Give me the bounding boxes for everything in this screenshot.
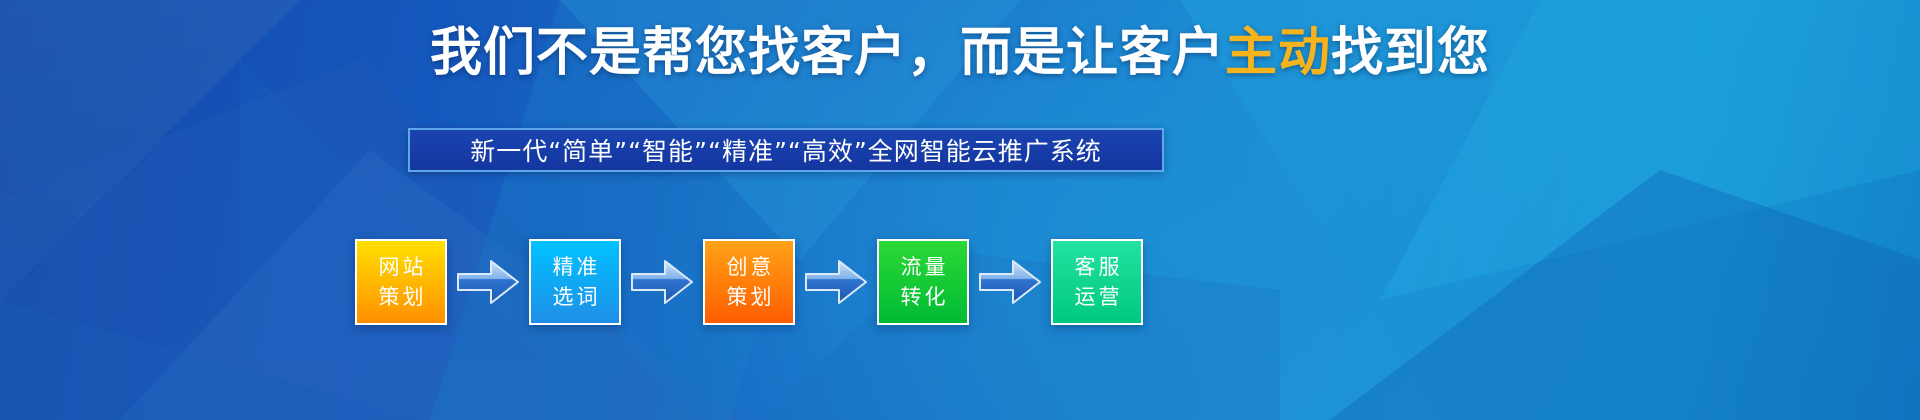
promo-banner: 我们不是帮您找客户，而是让客户主动找到您 新一代“简单”“智能”“精准”“高效”… xyxy=(0,0,1920,420)
flow-step-label-line2: 转化 xyxy=(898,282,949,312)
flow-step-label-line1: 客服 xyxy=(1072,252,1123,282)
right-arrow-icon xyxy=(457,259,519,305)
flow-step-label-line2: 策划 xyxy=(376,282,427,312)
subtitle-text: 新一代“简单”“智能”“精准”“高效”全网智能云推广系统 xyxy=(470,132,1102,168)
right-arrow-icon xyxy=(631,259,693,305)
flow-step-traffic-conversion[interactable]: 流量转化 xyxy=(877,239,969,325)
headline-part-1: 我们不是帮您找客户，而是让客户 xyxy=(430,23,1225,83)
subtitle-bar: 新一代“简单”“智能”“精准”“高效”全网智能云推广系统 xyxy=(408,128,1164,172)
flow-step-label-line2: 运营 xyxy=(1072,282,1123,312)
flow-step-label-line2: 选词 xyxy=(550,282,601,312)
right-arrow-icon xyxy=(805,259,867,305)
flow-step-label-line1: 流量 xyxy=(898,252,949,282)
flow-step-label-line1: 网站 xyxy=(376,252,427,282)
process-flow: 网站策划精准选词创意策划流量转化客服运营 xyxy=(355,232,1225,332)
headline-part-2: 找到您 xyxy=(1331,23,1490,83)
banner-headline: 我们不是帮您找客户，而是让客户主动找到您 xyxy=(0,22,1920,84)
flow-step-customer-service-ops[interactable]: 客服运营 xyxy=(1051,239,1143,325)
flow-step-label-line1: 创意 xyxy=(724,252,775,282)
flow-step-creative-planning[interactable]: 创意策划 xyxy=(703,239,795,325)
headline-highlight: 主动 xyxy=(1225,23,1331,83)
flow-step-label-line1: 精准 xyxy=(550,252,601,282)
flow-step-label-line2: 策划 xyxy=(724,282,775,312)
flow-step-precise-keyword[interactable]: 精准选词 xyxy=(529,239,621,325)
flow-step-website-planning[interactable]: 网站策划 xyxy=(355,239,447,325)
right-arrow-icon xyxy=(979,259,1041,305)
